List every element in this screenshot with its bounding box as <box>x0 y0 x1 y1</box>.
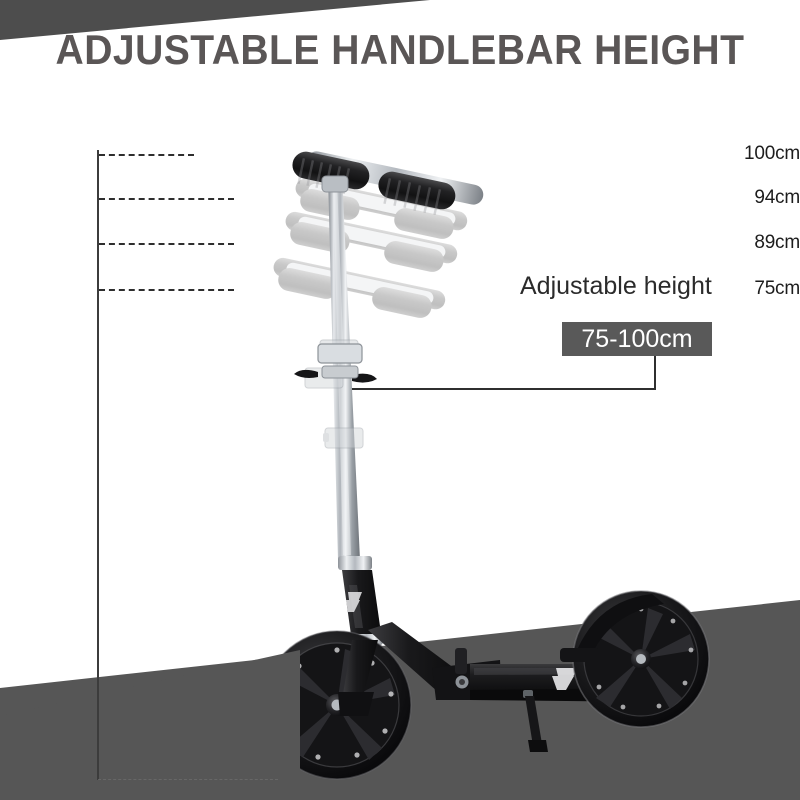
height-tick-dash-89 <box>99 243 234 245</box>
corner-decoration-bottom-left <box>0 640 300 800</box>
height-tick-label-75: 75cm <box>714 278 800 300</box>
height-tick-dash-75 <box>99 289 234 291</box>
height-tick-label-94: 94cm <box>714 187 800 209</box>
callout-leader-vertical <box>654 356 656 390</box>
height-tick-label-89: 89cm <box>714 232 800 254</box>
status-badge-height-range: 75-100cm <box>562 322 712 356</box>
callout-leader-horizontal <box>352 388 656 390</box>
height-tick-dash-100 <box>99 154 194 156</box>
infographic-canvas: ADJUSTABLE HANDLEBAR HEIGHT 100cm 94cm 8… <box>0 0 800 800</box>
callout-label: Adjustable height <box>520 272 712 301</box>
quick-release-lever-upper <box>294 344 377 383</box>
page-title: ADJUSTABLE HANDLEBAR HEIGHT <box>28 26 772 74</box>
height-tick-dash-94 <box>99 198 234 200</box>
stem-clamp-ghost-mid <box>323 428 363 448</box>
height-scale-baseline <box>98 779 278 780</box>
height-tick-label-100: 100cm <box>714 143 800 165</box>
